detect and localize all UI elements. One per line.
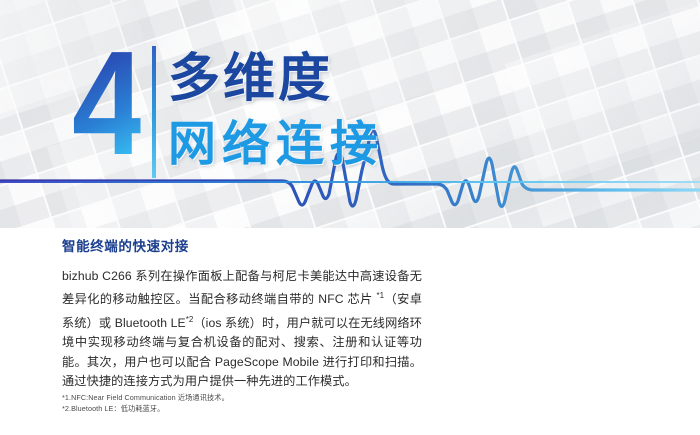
content-area: 智能终端的快速对接 bizhub C266 系列在操作面板上配备与柯尼卡美能达中…	[0, 228, 700, 435]
poster-page: 4 多维度 网络连接 智能终端的快速对接 bizhub C266 系列在操作面板…	[0, 0, 700, 435]
footnote-marker: *1	[377, 291, 385, 300]
headline-secondary: 网络连接	[168, 118, 384, 172]
section-number: 4	[72, 38, 141, 170]
headline-primary: 多维度	[168, 50, 333, 108]
footnote-item: *2.Bluetooth LE：低功耗蓝牙。	[62, 403, 229, 414]
footnote-list: *1.NFC:Near Field Communication 近场通讯技术。 …	[62, 392, 229, 414]
background-shard	[505, 2, 700, 187]
number-divider	[152, 46, 156, 178]
hero-divider-rule	[0, 181, 700, 183]
body-paragraph: bizhub C266 系列在操作面板上配备与柯尼卡美能达中高速设备无差异化的移…	[62, 267, 422, 392]
section-heading: 智能终端的快速对接	[62, 235, 422, 255]
footnote-item: *1.NFC:Near Field Communication 近场通讯技术。	[62, 392, 229, 403]
hero-banner: 4 多维度 网络连接	[0, 0, 700, 228]
footnote-marker: *2	[186, 315, 194, 324]
copy-block: 智能终端的快速对接 bizhub C266 系列在操作面板上配备与柯尼卡美能达中…	[62, 235, 422, 392]
